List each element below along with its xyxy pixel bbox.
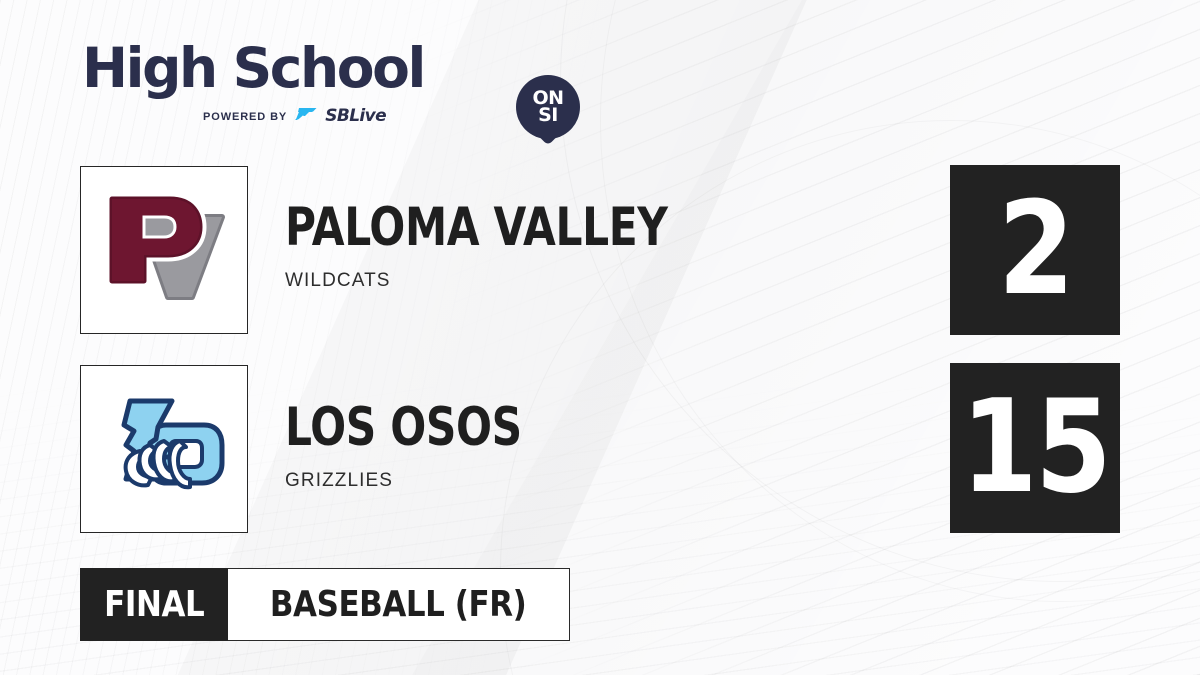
team-logo-box-2 bbox=[80, 365, 248, 533]
los-osos-lo-bear-claw-logo bbox=[100, 387, 228, 512]
sblive-wordmark-lower: ive bbox=[359, 106, 386, 126]
brand-title-word1: High bbox=[82, 36, 216, 100]
status-badge-final: FINAL bbox=[80, 568, 228, 641]
pin-label-bottom: SI bbox=[538, 107, 558, 124]
team-mascot-1: WILDCATS bbox=[285, 270, 763, 292]
score-value-team-1: 2 bbox=[998, 186, 1072, 314]
sblive-wordmark: SBLive bbox=[325, 108, 386, 125]
paloma-valley-pv-logo bbox=[100, 189, 228, 312]
sblive-wordmark-upper: SBL bbox=[325, 106, 359, 126]
powered-by-label: POWERED BY bbox=[203, 111, 287, 123]
scoreboard-graphic: High School ON SI POWERED BY SBLive bbox=[0, 0, 1200, 675]
score-value-team-2: 15 bbox=[961, 384, 1109, 512]
on-si-pin-icon: ON SI bbox=[516, 75, 580, 139]
game-status-bar: FINAL BASEBALL (FR) bbox=[80, 568, 570, 641]
team-name-2: LOS OSOS bbox=[285, 400, 522, 456]
team-info-2: LOS OSOS GRIZZLIES bbox=[285, 400, 581, 492]
brand-title: High School bbox=[82, 36, 512, 100]
sblive-s-icon bbox=[295, 108, 317, 125]
brand-title-word2: School bbox=[233, 36, 424, 100]
team-mascot-2: GRIZZLIES bbox=[285, 470, 581, 492]
team-logo-box-1 bbox=[80, 166, 248, 334]
score-box-team-1: 2 bbox=[950, 165, 1120, 335]
powered-by-lockup: POWERED BY SBLive bbox=[203, 108, 386, 125]
status-state-label: FINAL bbox=[104, 584, 204, 625]
score-box-team-2: 15 bbox=[950, 363, 1120, 533]
status-sport-label: BASEBALL (FR) bbox=[270, 584, 527, 625]
status-sport-panel: BASEBALL (FR) bbox=[228, 568, 570, 641]
pin-label: ON SI bbox=[516, 75, 580, 139]
team-info-1: PALOMA VALLEY WILDCATS bbox=[285, 200, 763, 292]
team-name-1: PALOMA VALLEY bbox=[285, 200, 668, 256]
